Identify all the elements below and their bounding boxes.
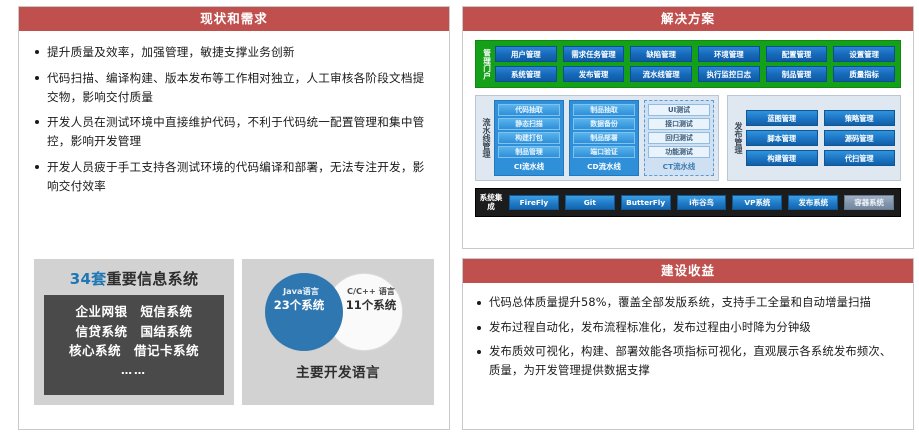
venn-diagram: Java语言 23个系统 C/C++ 语言 11个系统 — [242, 259, 434, 363]
release-button-code-scan-management[interactable]: 代扫管理 — [824, 150, 896, 166]
pipeline-step-port-verification[interactable]: 端口验证 — [573, 146, 635, 158]
pipeline-step-code-extraction[interactable]: 代码抽取 — [498, 104, 560, 116]
bullet-text: 代码扫描、编译构建、版本发布等工作相对独立，人工审核各阶段文档提交物，影响交付质… — [47, 69, 435, 107]
slide-root: 现状和需求 提升质量及效率，加强管理，敏捷支撑业务创新 代码扫描、编译构建、版本… — [0, 0, 919, 436]
benefits-panel: 建设收益 代码总体质量提升58%，覆盖全部发版系统，支持手工全量和自动增量扫描 … — [462, 258, 914, 430]
panel-title-current-state: 现状和需求 — [19, 7, 449, 31]
bullet-dot-icon — [35, 76, 39, 80]
release-button-build-management[interactable]: 构建管理 — [746, 150, 818, 166]
bullet-text: 开发人员疲于手工支持各测试环境的代码编译和部署，无法专注开发，影响交付效率 — [47, 158, 435, 196]
integration-button-release-system[interactable]: 发布系统 — [788, 195, 838, 210]
bullet-dot-icon — [477, 301, 481, 305]
systems-row: 核心系统 借记卡系统 — [44, 341, 224, 361]
pipeline-column-ci: 代码抽取 静态扫描 构建打包 制品管理 CI流水线 — [494, 100, 564, 176]
pipeline-and-release-row: 流水线管理 代码抽取 静态扫描 构建打包 制品管理 CI流水线 制品抽取 数据备… — [475, 95, 901, 181]
pipeline-step-artifact-management[interactable]: 制品管理 — [498, 146, 560, 158]
development-languages-card: Java语言 23个系统 C/C++ 语言 11个系统 主要开发语言 — [242, 259, 434, 405]
management-portal-button-grid: 用户管理 需求任务管理 缺陷管理 环境管理 配置管理 设置管理 系统管理 发布管… — [495, 46, 895, 82]
portal-button-user-management[interactable]: 用户管理 — [495, 46, 557, 62]
pipeline-step-artifact-deploy[interactable]: 制品部署 — [573, 132, 635, 144]
management-portal-band: 管理门户 用户管理 需求任务管理 缺陷管理 环境管理 配置管理 设置管理 系统管… — [475, 40, 901, 88]
portal-button-settings-management[interactable]: 设置管理 — [833, 46, 895, 62]
list-item: 代码扫描、编译构建、版本发布等工作相对独立，人工审核各阶段文档提交物，影响交付质… — [35, 69, 435, 107]
solution-architecture-diagram: 管理门户 用户管理 需求任务管理 缺陷管理 环境管理 配置管理 设置管理 系统管… — [463, 31, 913, 227]
bullet-text: 提升质量及效率，加强管理，敏捷支撑业务创新 — [47, 43, 295, 62]
solution-panel: 解决方案 管理门户 用户管理 需求任务管理 缺陷管理 环境管理 配置管理 设置管… — [462, 6, 914, 249]
pipeline-step-build-package[interactable]: 构建打包 — [498, 132, 560, 144]
panel-title-benefits: 建设收益 — [463, 259, 913, 283]
pipeline-step-data-backup[interactable]: 数据备份 — [573, 118, 635, 130]
pipeline-management-label: 流水线管理 — [478, 100, 494, 176]
release-button-script-management[interactable]: 脚本管理 — [746, 130, 818, 146]
pipeline-columns: 代码抽取 静态扫描 构建打包 制品管理 CI流水线 制品抽取 数据备份 制品部署… — [494, 100, 714, 176]
integration-button-butterfly[interactable]: ButterFly — [621, 195, 671, 210]
statistics-strip: 34套重要信息系统 企业网银 短信系统 信贷系统 国结系统 核心系统 借记卡系统… — [34, 259, 434, 405]
pipeline-step-interface-test[interactable]: 接口测试 — [648, 118, 710, 130]
list-item: 发布质效可视化，构建、部署效能各项指标可视化，直观展示各系统发布频次、质量，为开… — [477, 343, 901, 380]
release-button-source-code-management[interactable]: 源码管理 — [824, 130, 896, 146]
bullet-dot-icon — [35, 50, 39, 54]
system-integration-label: 系统集成 — [479, 193, 503, 212]
current-state-bullet-list: 提升质量及效率，加强管理，敏捷支撑业务创新 代码扫描、编译构建、版本发布等工作相… — [19, 31, 449, 206]
release-button-strategy-management[interactable]: 策略管理 — [824, 110, 896, 126]
list-item: 开发人员在测试环境中直接维护代码，不利于代码统一配置管理和集中管控，影响开发管理 — [35, 113, 435, 151]
portal-button-defect-management[interactable]: 缺陷管理 — [630, 46, 692, 62]
pipeline-footer-cd: CD流水线 — [573, 161, 635, 172]
management-portal-label: 管理门户 — [479, 46, 495, 82]
panel-title-solution: 解决方案 — [463, 7, 913, 31]
systems-ellipsis: …… — [44, 364, 224, 377]
system-integration-buttons: FireFly Git ButterFly i布谷鸟 VP系统 发布系统 容器系… — [509, 195, 894, 210]
venn-label-java: Java语言 — [262, 285, 340, 297]
integration-button-cuckoo[interactable]: i布谷鸟 — [677, 195, 727, 210]
integration-button-git[interactable]: Git — [565, 195, 615, 210]
pipeline-step-artifact-extraction[interactable]: 制品抽取 — [573, 104, 635, 116]
list-item: 发布过程自动化，发布流程标准化，发布过程由小时降为分钟级 — [477, 319, 901, 338]
current-state-panel: 现状和需求 提升质量及效率，加强管理，敏捷支撑业务创新 代码扫描、编译构建、版本… — [18, 6, 450, 430]
pipeline-footer-ci: CI流水线 — [498, 161, 560, 172]
release-management-label: 发布管理 — [730, 100, 746, 176]
pipeline-step-ui-test[interactable]: UI测试 — [648, 104, 710, 116]
list-item: 代码总体质量提升58%，覆盖全部发版系统，支持手工全量和自动增量扫描 — [477, 294, 901, 313]
integration-button-firefly[interactable]: FireFly — [509, 195, 559, 210]
integration-button-container-system[interactable]: 容器系统 — [844, 195, 894, 210]
bullet-text: 开发人员在测试环境中直接维护代码，不利于代码统一配置管理和集中管控，影响开发管理 — [47, 113, 435, 151]
venn-value-cpp: 11个系统 — [332, 297, 410, 313]
bullet-text: 发布质效可视化，构建、部署效能各项指标可视化，直观展示各系统发布频次、质量，为开… — [489, 343, 901, 380]
important-systems-card: 34套重要信息系统 企业网银 短信系统 信贷系统 国结系统 核心系统 借记卡系统… — [34, 259, 234, 405]
portal-button-release-management[interactable]: 发布管理 — [563, 66, 625, 82]
bullet-text: 代码总体质量提升58%，覆盖全部发版系统，支持手工全量和自动增量扫描 — [489, 294, 871, 313]
portal-button-artifact-management[interactable]: 制品管理 — [766, 66, 828, 82]
pipeline-footer-ct: CT流水线 — [648, 161, 710, 172]
system-integration-band: 系统集成 FireFly Git ButterFly i布谷鸟 VP系统 发布系… — [475, 188, 901, 217]
systems-row: 企业网银 短信系统 — [44, 302, 224, 322]
bullet-dot-icon — [477, 350, 481, 354]
bullet-dot-icon — [35, 165, 39, 169]
pipeline-step-functional-test[interactable]: 功能测试 — [648, 146, 710, 158]
venn-label-cpp: C/C++ 语言 — [332, 285, 410, 297]
pipeline-column-cd: 制品抽取 数据备份 制品部署 端口验证 CD流水线 — [569, 100, 639, 176]
release-button-grid: 蓝图管理 策略管理 脚本管理 源码管理 构建管理 代扫管理 — [746, 100, 895, 176]
pipeline-step-regression-test[interactable]: 回归测试 — [648, 132, 710, 144]
integration-button-vp-system[interactable]: VP系统 — [732, 195, 782, 210]
list-item: 开发人员疲于手工支持各测试环境的代码编译和部署，无法专注开发，影响交付效率 — [35, 158, 435, 196]
list-item: 提升质量及效率，加强管理，敏捷支撑业务创新 — [35, 43, 435, 62]
systems-name-box: 企业网银 短信系统 信贷系统 国结系统 核心系统 借记卡系统 …… — [44, 295, 224, 395]
portal-button-pipeline-management[interactable]: 流水线管理 — [630, 66, 692, 82]
portal-button-system-management[interactable]: 系统管理 — [495, 66, 557, 82]
portal-button-environment-management[interactable]: 环境管理 — [698, 46, 760, 62]
systems-row: 信贷系统 国结系统 — [44, 322, 224, 342]
portal-button-execution-monitor-log[interactable]: 执行监控日志 — [698, 66, 760, 82]
development-languages-caption: 主要开发语言 — [242, 361, 434, 381]
bullet-dot-icon — [477, 326, 481, 330]
important-systems-title: 34套重要信息系统 — [34, 259, 234, 289]
systems-count-highlight: 34套 — [70, 270, 107, 288]
release-management-box: 发布管理 蓝图管理 策略管理 脚本管理 源码管理 构建管理 代扫管理 — [727, 95, 901, 181]
pipeline-step-static-scan[interactable]: 静态扫描 — [498, 118, 560, 130]
bullet-text: 发布过程自动化，发布流程标准化，发布过程由小时降为分钟级 — [489, 319, 811, 338]
venn-value-java: 23个系统 — [260, 297, 338, 313]
pipeline-column-ct: UI测试 接口测试 回归测试 功能测试 CT流水线 — [644, 100, 714, 176]
systems-title-rest: 重要信息系统 — [106, 270, 198, 288]
portal-button-quality-metrics[interactable]: 质量指标 — [833, 66, 895, 82]
release-button-blueprint-management[interactable]: 蓝图管理 — [746, 110, 818, 126]
benefits-bullet-list: 代码总体质量提升58%，覆盖全部发版系统，支持手工全量和自动增量扫描 发布过程自… — [463, 283, 913, 380]
portal-button-requirement-task-management[interactable]: 需求任务管理 — [563, 46, 625, 62]
portal-button-configuration-management[interactable]: 配置管理 — [766, 46, 828, 62]
bullet-dot-icon — [35, 120, 39, 124]
pipeline-management-box: 流水线管理 代码抽取 静态扫描 构建打包 制品管理 CI流水线 制品抽取 数据备… — [475, 95, 719, 181]
